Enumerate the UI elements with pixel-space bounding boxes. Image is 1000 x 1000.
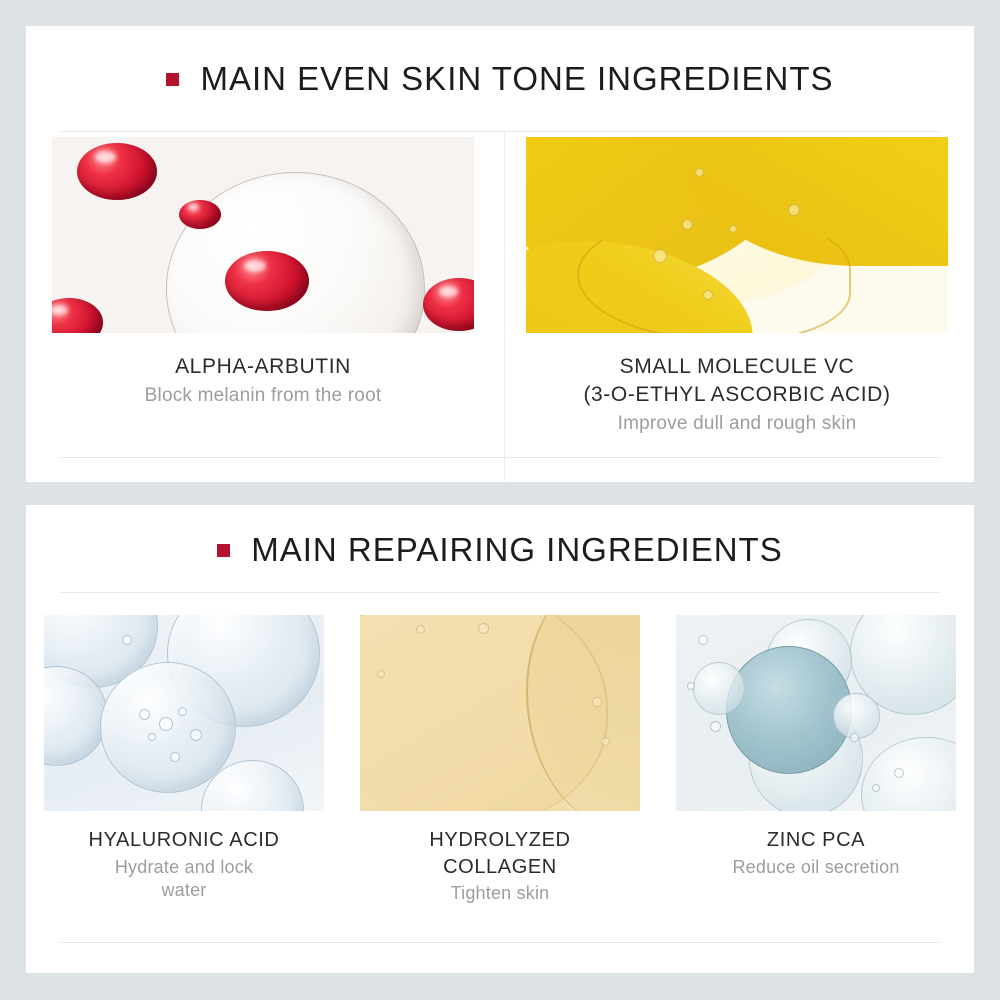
micro-droplet-icon xyxy=(687,682,695,690)
gel-bubble-icon xyxy=(416,625,425,634)
micro-bubble-icon xyxy=(122,635,132,645)
small-molecule-vc-yellow-oil-photo xyxy=(526,137,948,333)
ingredient-subtitle: Reduce oil secretion xyxy=(676,856,956,880)
ingredient-card-hydrolyzed-collagen: HYDROLYZED COLLAGEN Tighten skin xyxy=(342,605,658,950)
ingredient-card-row-even-skin-tone: ALPHA-ARBUTIN Block melanin from the roo… xyxy=(26,131,974,461)
ingredient-title: HYALURONIC ACID xyxy=(44,827,324,854)
zinc-pca-blue-oil-circles-photo xyxy=(676,615,956,811)
ingredient-card-hyaluronic-acid: HYALURONIC ACID Hydrate and lock water xyxy=(26,605,342,950)
red-square-bullet-icon xyxy=(217,544,230,557)
gel-dome-shape xyxy=(166,172,425,333)
ingredient-title: ZINC PCA xyxy=(676,827,956,854)
gel-bubble-icon xyxy=(377,670,385,678)
oil-edge-outline xyxy=(577,215,851,333)
cherry-icon xyxy=(77,143,157,200)
gel-bubble-icon xyxy=(601,737,610,746)
micro-droplet-icon xyxy=(698,635,708,645)
ingredient-title: ALPHA-ARBUTIN xyxy=(52,353,474,381)
ingredient-card-alpha-arbutin: ALPHA-ARBUTIN Block melanin from the roo… xyxy=(26,131,500,461)
ingredient-subtitle: Improve dull and rough skin xyxy=(526,411,948,436)
section-title-text: MAIN REPAIRING INGREDIENTS xyxy=(251,533,782,566)
card-caption: SMALL MOLECULE VC (3-O-ETHYL ASCORBIC AC… xyxy=(526,353,948,436)
section-panel-repairing: MAIN REPAIRING INGREDIENTS xyxy=(26,505,974,973)
card-caption: ALPHA-ARBUTIN Block melanin from the roo… xyxy=(52,353,474,408)
oil-bubble-icon xyxy=(729,225,737,233)
cherry-icon xyxy=(179,200,221,229)
hyaluronic-acid-water-bubbles-photo xyxy=(44,615,324,811)
micro-bubble-icon xyxy=(190,729,202,741)
ingredient-card-row-repairing: HYALURONIC ACID Hydrate and lock water H… xyxy=(26,605,974,950)
section-heading-repairing: MAIN REPAIRING INGREDIENTS xyxy=(26,533,974,566)
ingredient-subtitle: Block melanin from the root xyxy=(52,383,474,408)
micro-droplet-icon xyxy=(710,721,721,732)
card-caption: ZINC PCA Reduce oil secretion xyxy=(676,827,956,879)
footer-divider-bottom-panel xyxy=(60,942,940,943)
ingredient-card-small-molecule-vc: SMALL MOLECULE VC (3-O-ETHYL ASCORBIC AC… xyxy=(500,131,974,461)
cherry-icon xyxy=(52,298,103,333)
infographic-canvas: MAIN EVEN SKIN TONE INGREDIENTS ALPHA-AR… xyxy=(0,0,1000,1000)
ingredient-title: HYDROLYZED COLLAGEN xyxy=(360,827,640,880)
hydrolyzed-collagen-amber-gel-photo xyxy=(360,615,640,811)
oil-circle-icon xyxy=(833,693,880,738)
ingredient-card-zinc-pca: ZINC PCA Reduce oil secretion xyxy=(658,605,974,950)
cherry-icon xyxy=(423,278,474,331)
oil-bubble-icon xyxy=(788,204,800,216)
oil-circle-icon xyxy=(861,737,956,811)
micro-droplet-icon xyxy=(872,784,880,792)
micro-bubble-icon xyxy=(148,733,156,741)
ingredient-subtitle: Hydrate and lock water xyxy=(44,856,324,904)
red-square-bullet-icon xyxy=(166,73,179,86)
ingredient-subtitle: Tighten skin xyxy=(360,882,640,906)
oil-circle-icon xyxy=(693,662,745,715)
card-caption: HYALURONIC ACID Hydrate and lock water xyxy=(44,827,324,903)
alpha-arbutin-cherries-gel-photo xyxy=(52,137,474,333)
section-title-text: MAIN EVEN SKIN TONE INGREDIENTS xyxy=(200,62,833,95)
footer-divider-top-panel xyxy=(60,457,940,458)
section-heading-even-skin-tone: MAIN EVEN SKIN TONE INGREDIENTS xyxy=(26,62,974,95)
gel-bubble-icon xyxy=(478,623,489,634)
heading-divider-bottom-panel xyxy=(60,592,940,593)
oil-bubble-icon xyxy=(653,249,667,263)
card-caption: HYDROLYZED COLLAGEN Tighten skin xyxy=(360,827,640,906)
section-panel-even-skin-tone: MAIN EVEN SKIN TONE INGREDIENTS ALPHA-AR… xyxy=(26,26,974,482)
micro-bubble-icon xyxy=(159,717,173,731)
ingredient-title: SMALL MOLECULE VC (3-O-ETHYL ASCORBIC AC… xyxy=(526,353,948,409)
micro-droplet-icon xyxy=(850,733,859,742)
